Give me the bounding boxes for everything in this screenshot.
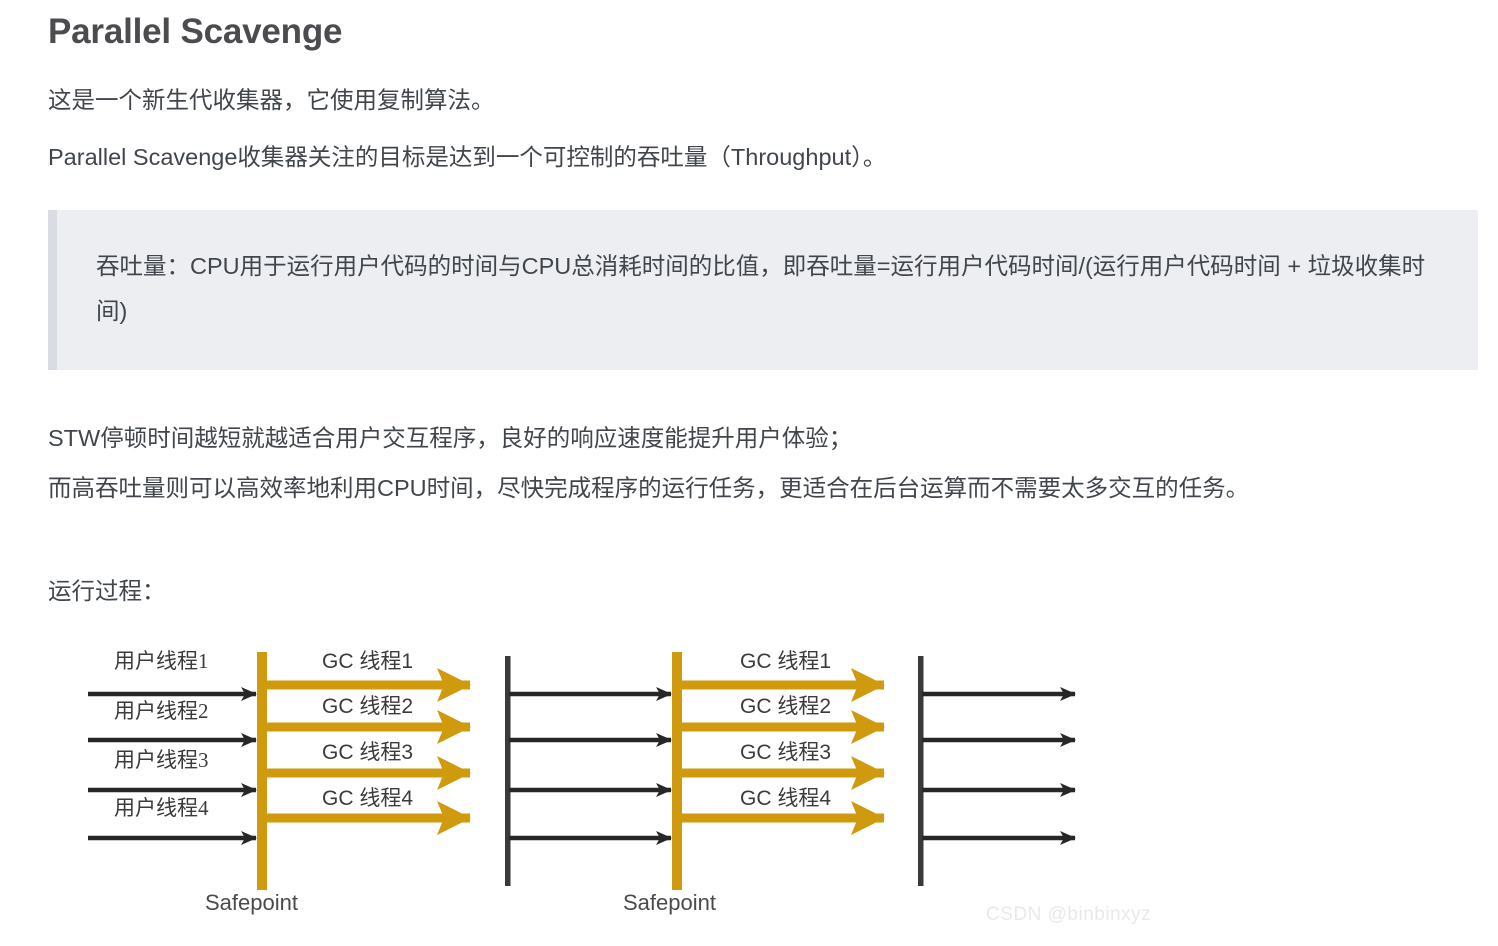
barrier-bar-2: [918, 656, 924, 886]
gc-thread-label-p2-2: GC 线程2: [740, 695, 831, 718]
user-thread-label-1: 用户线程1: [114, 649, 209, 673]
paragraph-body-2: 而高吞吐量则可以高效率地利用CPU时间，尽快完成程序的运行任务，更适合在后台运算…: [48, 465, 1488, 511]
user-thread-label-2: 用户线程2: [114, 699, 209, 723]
safepoint-label-2: Safepoint: [623, 890, 716, 915]
user-thread-arrows-middle: [509, 694, 671, 838]
gc-thread-label-p1-2: GC 线程2: [322, 695, 413, 718]
paragraph-body-1: STW停顿时间越短就越适合用户交互程序，良好的响应速度能提升用户体验；: [48, 415, 852, 461]
safepoint-label-1: Safepoint: [205, 890, 298, 915]
user-thread-arrows-right: [922, 694, 1075, 838]
gc-thread-label-p2-4: GC 线程4: [740, 787, 831, 810]
gc-thread-label-p1-3: GC 线程3: [322, 741, 413, 764]
gc-thread-label-p2-1: GC 线程1: [740, 650, 831, 673]
gc-thread-label-p1-4: GC 线程4: [322, 787, 413, 810]
parallel-scavenge-timeline-diagram: 用户线程1 用户线程2 用户线程3 用户线程4 GC 线程1 GC 线程2 GC…: [0, 628, 1260, 938]
article-body: Parallel Scavenge 这是一个新生代收集器，它使用复制算法。 Pa…: [0, 0, 1498, 946]
barrier-bar-1: [505, 656, 511, 886]
paragraph-intro-2: Parallel Scavenge收集器关注的目标是达到一个可控制的吞吐量（Th…: [48, 134, 886, 180]
gc-thread-label-p1-1: GC 线程1: [322, 650, 413, 673]
paragraph-intro-1: 这是一个新生代收集器，它使用复制算法。: [48, 77, 495, 123]
paragraph-body-3: 运行过程：: [48, 568, 166, 614]
user-thread-label-4: 用户线程4: [114, 796, 209, 820]
csdn-watermark: CSDN @binbinxyz: [986, 904, 1151, 926]
gc-thread-label-p2-3: GC 线程3: [740, 741, 831, 764]
page-title: Parallel Scavenge: [48, 10, 342, 54]
user-thread-label-3: 用户线程3: [114, 748, 209, 772]
blockquote-text: 吞吐量：CPU用于运行用户代码的时间与CPU总消耗时间的比值，即吞吐量=运行用户…: [96, 244, 1436, 334]
